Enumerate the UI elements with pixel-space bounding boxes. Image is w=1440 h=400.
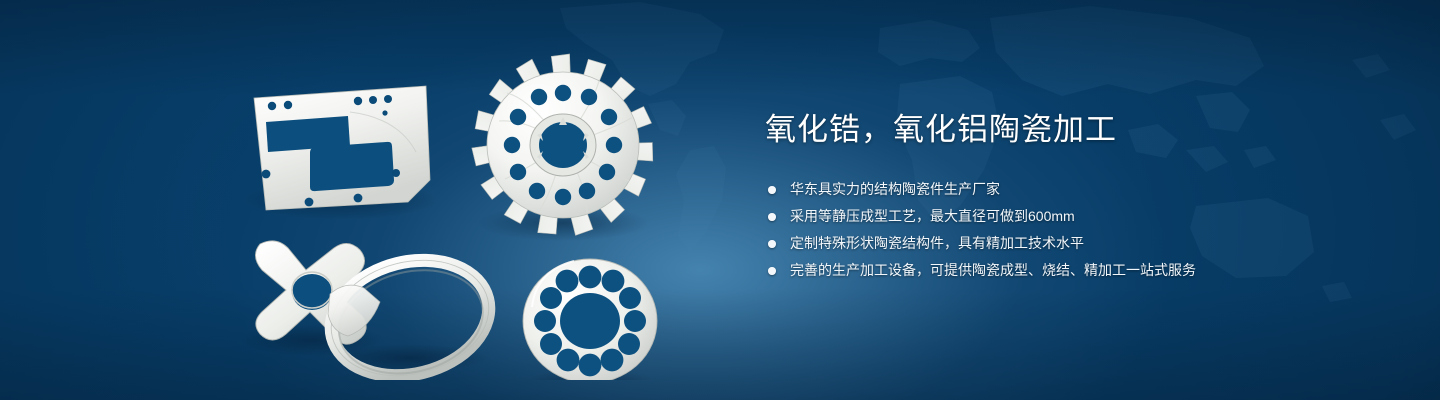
bullet-dot-icon [768, 267, 776, 275]
banner-copy: 氧化锆，氧化铝陶瓷加工 华东具实力的结构陶瓷件生产厂家 采用等静压成型工艺，最大… [765, 108, 1365, 286]
feature-list: 华东具实力的结构陶瓷件生产厂家 采用等静压成型工艺，最大直径可做到600mm 定… [765, 178, 1365, 282]
bullet-dot-icon [768, 240, 776, 248]
feature-text: 完善的生产加工设备，可提供陶瓷成型、烧结、精加工一站式服务 [790, 262, 1196, 278]
bullet-dot-icon [768, 186, 776, 194]
feature-list-item: 华东具实力的结构陶瓷件生产厂家 [765, 178, 1365, 201]
product-perforated-disc [523, 259, 657, 380]
feature-list-item: 完善的生产加工设备，可提供陶瓷成型、烧结、精加工一站式服务 [765, 259, 1365, 282]
product-photo-group [230, 40, 700, 380]
feature-text: 定制特殊形状陶瓷结构件，具有精加工技术水平 [790, 235, 1084, 251]
product-ceramic-impeller [465, 46, 662, 242]
feature-text: 采用等静压成型工艺，最大直径可做到600mm [790, 208, 1075, 224]
feature-list-item: 采用等静压成型工艺，最大直径可做到600mm [765, 205, 1365, 228]
bullet-dot-icon [768, 213, 776, 221]
feature-text: 华东具实力的结构陶瓷件生产厂家 [790, 181, 1000, 197]
product-ceramic-plate [240, 86, 440, 220]
banner-title: 氧化锆，氧化铝陶瓷加工 [765, 108, 1365, 152]
feature-list-item: 定制特殊形状陶瓷结构件，具有精加工技术水平 [765, 232, 1365, 255]
hero-banner: 氧化锆，氧化铝陶瓷加工 华东具实力的结构陶瓷件生产厂家 采用等静压成型工艺，最大… [0, 0, 1440, 400]
